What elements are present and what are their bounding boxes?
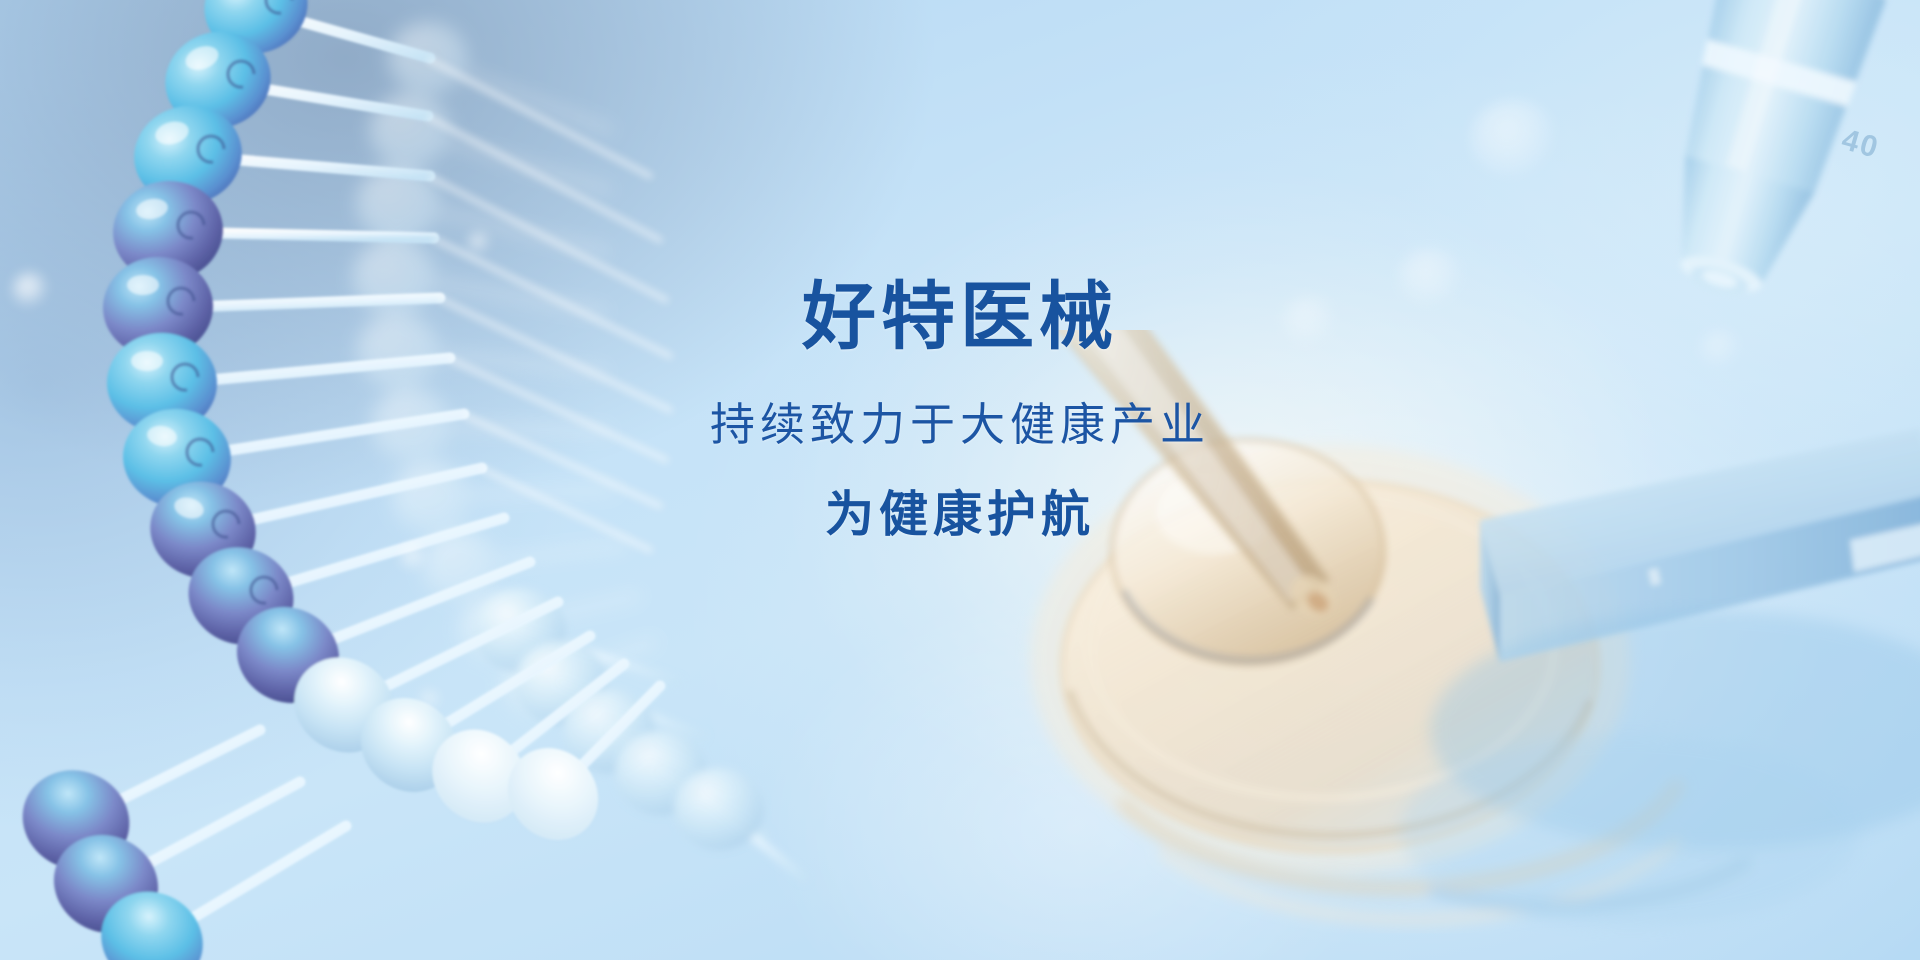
hero-subtitle: 持续致力于大健康产业 [0,402,1920,447]
hero-headline-block: 好特医械 持续致力于大健康产业 为健康护航 [0,280,1920,540]
page-title: 好特医械 [0,280,1920,354]
hero-banner: 40 [0,0,1920,960]
hero-slogan: 为健康护航 [0,491,1920,540]
